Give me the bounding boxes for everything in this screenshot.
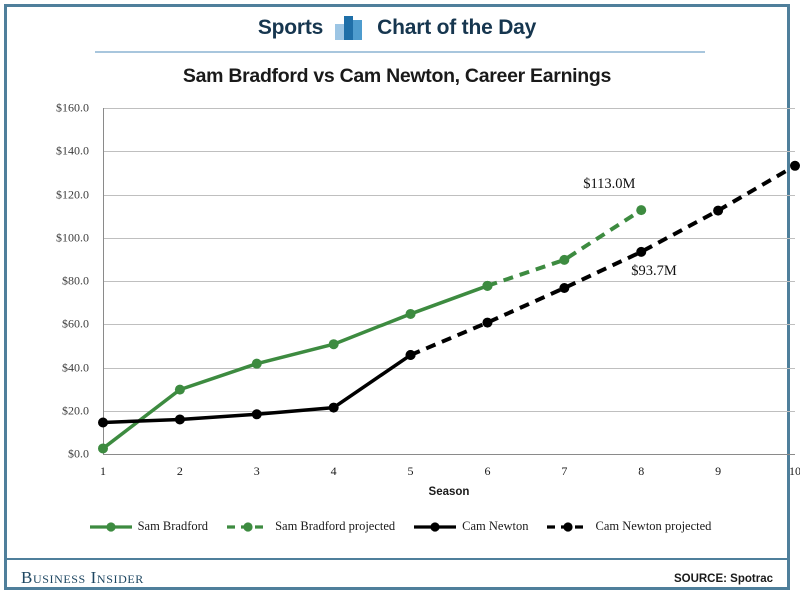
legend-item-2[interactable]: Cam Newton bbox=[413, 519, 528, 534]
legend-item-0[interactable]: Sam Bradford bbox=[89, 519, 208, 534]
legend-item-3[interactable]: Cam Newton projected bbox=[546, 519, 711, 534]
series-lines bbox=[103, 108, 795, 455]
x-tick-label: 9 bbox=[698, 464, 738, 479]
bar-chart-icon bbox=[335, 16, 365, 40]
x-tick-label: 8 bbox=[621, 464, 661, 479]
x-tick-label: 7 bbox=[544, 464, 584, 479]
legend-swatch bbox=[226, 520, 270, 534]
plot-area: $0.0$20.0$40.0$60.0$80.0$100.0$120.0$140… bbox=[103, 108, 795, 454]
legend-label: Sam Bradford bbox=[138, 519, 208, 534]
data-point-marker bbox=[559, 255, 569, 265]
header-right-text: Chart of the Day bbox=[377, 16, 536, 40]
x-tick-label: 4 bbox=[314, 464, 354, 479]
series-line bbox=[487, 210, 641, 286]
y-tick-label: $100.0 bbox=[0, 230, 89, 245]
data-point-marker bbox=[406, 350, 416, 360]
data-point-marker bbox=[790, 161, 800, 171]
legend-label: Sam Bradford projected bbox=[275, 519, 395, 534]
data-point-marker bbox=[636, 205, 646, 215]
x-axis-title: Season bbox=[103, 486, 795, 498]
data-point-marker bbox=[175, 414, 185, 424]
footer-divider bbox=[7, 558, 787, 560]
source-label: SOURCE: Spotrac bbox=[674, 573, 773, 585]
legend: Sam BradfordSam Bradford projectedCam Ne… bbox=[7, 519, 793, 534]
legend-swatch bbox=[413, 520, 457, 534]
x-tick-label: 1 bbox=[83, 464, 123, 479]
business-insider-logo: Business Insider bbox=[21, 568, 144, 588]
x-tick-label: 2 bbox=[160, 464, 200, 479]
data-point-marker bbox=[559, 283, 569, 293]
y-tick-label: $80.0 bbox=[0, 274, 89, 289]
series-line bbox=[103, 286, 487, 449]
header-banner: Sports Chart of the Day bbox=[7, 7, 787, 49]
legend-swatch bbox=[546, 520, 590, 534]
x-tick-label: 3 bbox=[237, 464, 277, 479]
data-point-marker bbox=[406, 309, 416, 319]
data-point-marker bbox=[252, 359, 262, 369]
chart-card: Sports Chart of the Day Sam Bradford vs … bbox=[4, 4, 790, 590]
y-tick-label: $0.0 bbox=[0, 447, 89, 462]
y-tick-label: $20.0 bbox=[0, 403, 89, 418]
data-point-label: $113.0M bbox=[583, 176, 635, 193]
data-point-marker bbox=[252, 409, 262, 419]
x-tick-label: 6 bbox=[467, 464, 507, 479]
legend-label: Cam Newton bbox=[462, 519, 528, 534]
data-point-marker bbox=[329, 403, 339, 413]
y-tick-label: $40.0 bbox=[0, 360, 89, 375]
data-point-marker bbox=[98, 443, 108, 453]
header-divider bbox=[95, 51, 705, 53]
header-left-text: Sports bbox=[258, 16, 323, 40]
x-tick-label: 5 bbox=[391, 464, 431, 479]
legend-item-1[interactable]: Sam Bradford projected bbox=[226, 519, 395, 534]
data-point-marker bbox=[98, 417, 108, 427]
y-tick-label: $140.0 bbox=[0, 144, 89, 159]
y-tick-label: $120.0 bbox=[0, 187, 89, 202]
data-point-marker bbox=[482, 281, 492, 291]
x-tick-label: 10 bbox=[775, 464, 800, 479]
data-point-marker bbox=[329, 339, 339, 349]
data-point-marker bbox=[636, 247, 646, 257]
y-tick-label: $60.0 bbox=[0, 317, 89, 332]
data-point-marker bbox=[175, 385, 185, 395]
chart-title: Sam Bradford vs Cam Newton, Career Earni… bbox=[7, 65, 787, 88]
data-point-marker bbox=[482, 318, 492, 328]
series-line bbox=[411, 166, 795, 355]
y-tick-label: $160.0 bbox=[0, 101, 89, 116]
legend-label: Cam Newton projected bbox=[595, 519, 711, 534]
data-point-label: $93.7M bbox=[631, 263, 677, 280]
legend-swatch bbox=[89, 520, 133, 534]
data-point-marker bbox=[713, 206, 723, 216]
